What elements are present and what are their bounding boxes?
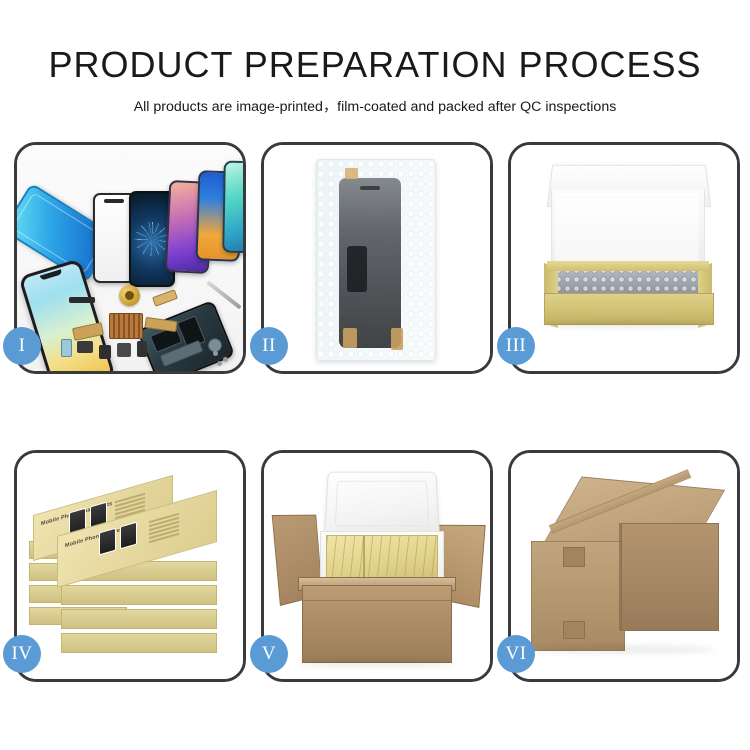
screw-3-icon — [217, 361, 222, 366]
small-part-3-icon — [117, 343, 131, 357]
process-step-panel-4: Mobile Phone Spare Parts — [14, 450, 246, 682]
page-subtitle: All products are image-printed，film-coat… — [0, 86, 750, 116]
process-step-panel-5: V — [261, 450, 493, 682]
foam-sheet-icon — [555, 193, 699, 269]
bubble-wrap-layer-icon — [555, 267, 701, 295]
label-phone-image-icon — [99, 528, 116, 556]
ic-chip-grid-icon — [109, 313, 143, 339]
step-4-artwork: Mobile Phone Spare Parts — [17, 453, 243, 679]
page-title: PRODUCT PREPARATION PROCESS — [0, 0, 750, 86]
stacked-box-side-6 — [61, 585, 217, 605]
tape-top-icon — [345, 168, 358, 179]
carton-seam-bottom-icon — [563, 621, 585, 639]
step-3-artwork — [511, 145, 737, 371]
carton-shadow — [298, 659, 454, 667]
process-step-panel-6: VI — [508, 450, 740, 682]
small-part-2-icon — [99, 345, 111, 359]
process-step-panel-2: II — [261, 142, 493, 374]
step-2-artwork — [264, 145, 490, 371]
carton-corner-edge — [619, 523, 621, 631]
step-5-artwork — [264, 453, 490, 679]
stacked-box-side-7 — [61, 609, 217, 629]
box-shadow — [541, 321, 716, 328]
product-preparation-infographic: PRODUCT PREPARATION PROCESS All products… — [0, 0, 750, 750]
box-stack-icon: Mobile Phone Spare Parts — [23, 467, 239, 667]
wrapped-flex-cable-icon — [347, 246, 367, 292]
process-steps-grid: I II — [14, 142, 740, 682]
box-rim-icon — [547, 261, 709, 271]
small-part-1-icon — [77, 341, 93, 353]
copper-coil-icon — [119, 285, 140, 306]
step-badge-4: IV — [3, 635, 41, 673]
foam-lid-icon — [324, 472, 440, 537]
step-badge-6: VI — [497, 635, 535, 673]
bubble-wrap-package-icon — [316, 159, 436, 361]
screw-2-icon — [223, 357, 228, 362]
label-phone-image-icon — [120, 522, 137, 550]
screw-1-icon — [213, 351, 218, 356]
tape-bottom-left-icon — [343, 328, 357, 348]
yellow-boxes-inside-icon — [326, 535, 438, 581]
step-6-artwork — [511, 453, 737, 679]
header: PRODUCT PREPARATION PROCESS All products… — [0, 0, 750, 116]
sealed-carton-shadow — [533, 645, 715, 654]
step-badge-2: II — [250, 327, 288, 365]
small-part-5-icon — [61, 339, 72, 357]
carton-seam-top-icon — [563, 547, 585, 567]
step-badge-5: V — [250, 635, 288, 673]
stacked-box-side-8 — [61, 633, 217, 653]
process-step-panel-3: III — [508, 142, 740, 374]
step-badge-3: III — [497, 327, 535, 365]
tape-bottom-right-icon — [391, 328, 403, 350]
step-badge-1: I — [3, 327, 41, 365]
step-1-artwork — [17, 145, 243, 371]
carton-body-icon — [302, 585, 452, 663]
process-step-panel-1: I — [14, 142, 246, 374]
phone-screen-teal-icon — [222, 161, 243, 254]
sim-tray-icon — [69, 297, 95, 303]
sealed-carton-right-face-icon — [621, 523, 719, 631]
small-part-4-icon — [137, 341, 147, 357]
